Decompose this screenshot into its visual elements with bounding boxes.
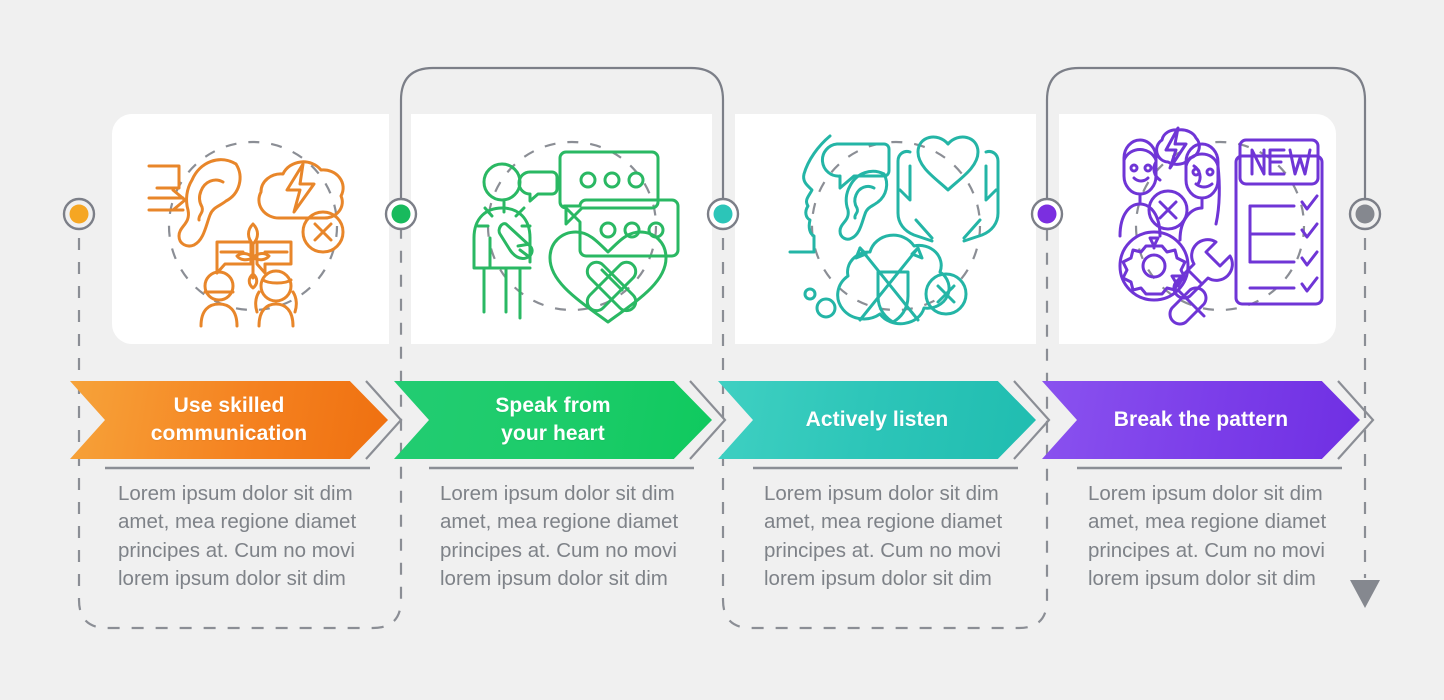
step-2-description: Lorem ipsum dolor sit dim amet, mea regi… — [440, 480, 702, 593]
step-3-label: Actively listen — [790, 406, 965, 434]
step-1-description: Lorem ipsum dolor sit dim amet, mea regi… — [118, 480, 380, 593]
step-3-banner[interactable]: Actively listen — [718, 381, 1036, 459]
step-4-banner[interactable]: Break the pattern — [1042, 381, 1360, 459]
step-2-label: Speak fromyour heart — [479, 392, 626, 448]
hands-holding-heart-group — [898, 137, 998, 241]
step-4-label: Break the pattern — [1098, 406, 1304, 434]
new-checklist-clipboard-group — [1236, 140, 1322, 304]
connector-lines-layer — [0, 0, 1444, 700]
step-4-icon — [1110, 126, 1330, 331]
step-3-icon — [786, 126, 1006, 331]
sound-ear-group — [149, 160, 240, 246]
timeline-end-arrow-icon — [1350, 580, 1380, 608]
person-hand-on-chest-group — [474, 164, 557, 318]
step-2-icon — [462, 126, 682, 331]
step-1-icon — [143, 126, 363, 331]
step-3-description: Lorem ipsum dolor sit dim amet, mea regi… — [764, 480, 1026, 593]
step-1-banner[interactable]: Use skilledcommunication — [70, 381, 388, 459]
heart-with-bandage-group — [550, 232, 666, 322]
thought-cloud-lightning-group — [259, 162, 343, 252]
two-people-conflict-group — [1120, 128, 1219, 240]
step-1-label: Use skilledcommunication — [135, 392, 323, 448]
magnifier-gear-wrench-group — [1120, 232, 1232, 324]
step-2-banner[interactable]: Speak fromyour heart — [394, 381, 712, 459]
infographic-canvas: Use skilledcommunication Speak fromyour … — [0, 0, 1444, 700]
step-4-description: Lorem ipsum dolor sit dim amet, mea regi… — [1088, 480, 1350, 593]
speech-bubbles-olive-branch-group — [217, 224, 291, 288]
